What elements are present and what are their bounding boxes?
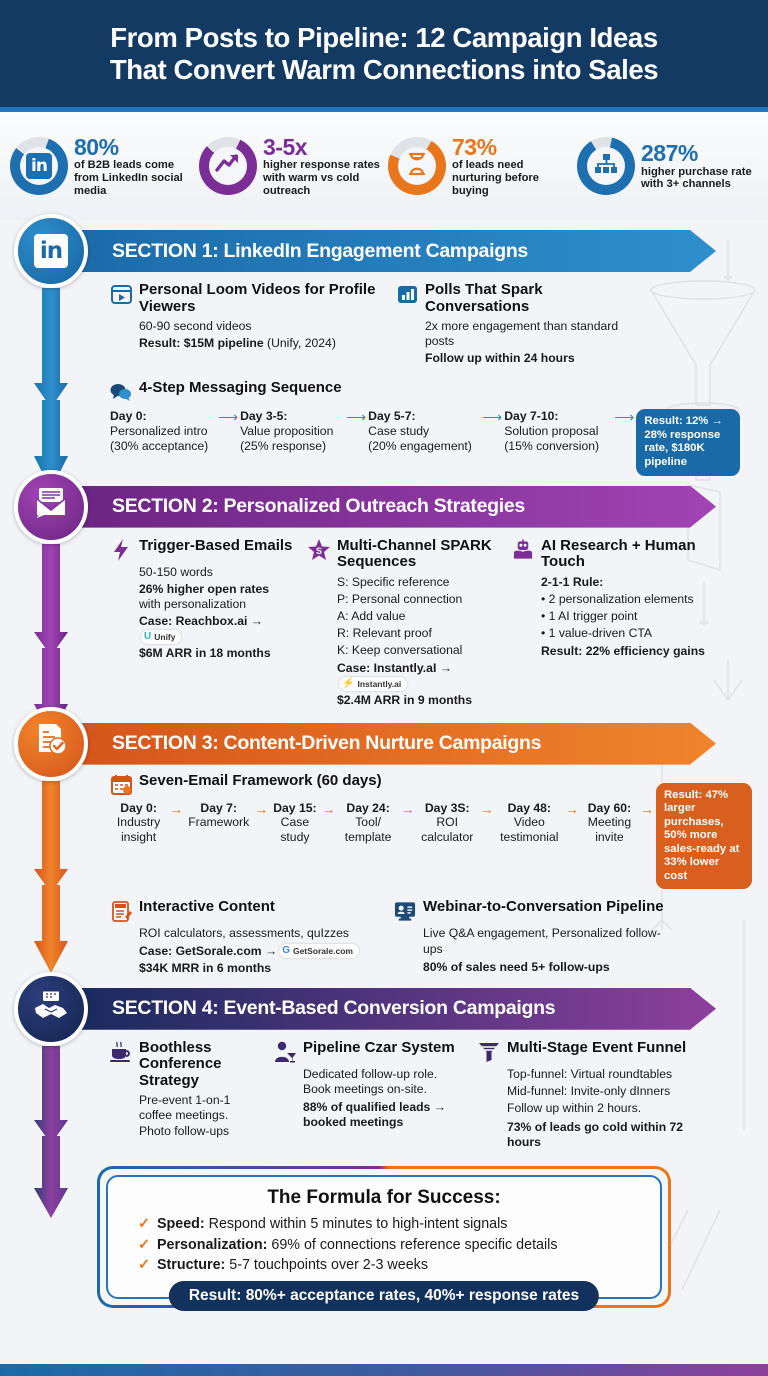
section-2-banner: SECTION 2: Personalized Outreach Strateg… (56, 486, 716, 528)
brand-chip-getsorale: GGetSorale.com (279, 944, 359, 958)
card-line: • 1 value-driven CTA (541, 626, 712, 641)
card-line: ROI calculators, assessments, quIzzes (139, 926, 380, 941)
step-line1: Video (496, 815, 563, 830)
timeline-step: Day 15: Case study (270, 801, 319, 845)
section-2-badge (14, 470, 88, 544)
section-2: SECTION 2: Personalized Outreach Strateg… (0, 486, 768, 717)
card-polls: Polls That Spark Conversations 2x more e… (396, 282, 646, 368)
lightning-bolt-icon (110, 539, 132, 561)
section-1-title: SECTION 1: LinkedIn Engagement Campaigns (112, 240, 528, 263)
card-line: • 2 personalization elements (541, 592, 712, 607)
chat-bubbles-icon (110, 381, 132, 403)
formula-title: The Formula for Success: (124, 1187, 644, 1209)
card-line: P: Personal connection (337, 592, 498, 607)
card-spark-sequences: S Multi-Channel SPARK Sequences S: Speci… (308, 538, 498, 711)
sequence-title: 4-Step Messaging Sequence (139, 380, 342, 397)
card-webinar-pipeline: Webinar-to-Conversation Pipeline Live Q&… (394, 899, 674, 977)
section-4: SECTION 4: Event-Based Conversion Campai… (0, 988, 768, 1159)
timeline-step: Day 48: Video testimonial (496, 801, 563, 845)
arrow-right-icon: ⟶ (344, 409, 368, 425)
card-event-funnel: Multi-Stage Event Funnel Top-funnel: Vir… (478, 1040, 693, 1153)
card-line: Pre-event 1-on-1 coffee meetings. Photo … (139, 1093, 260, 1138)
card-line: A: Add value (337, 609, 498, 624)
card-line: Result: 22% efficiency gains (541, 644, 712, 659)
card-line: Case: GetSorale.com → (139, 944, 277, 958)
card-line: 88% of qualified leads → booked meetings (303, 1100, 464, 1130)
page-title: From Posts to Pipeline: 12 Campaign Idea… (110, 22, 658, 86)
chip-label: GetSorale.com (293, 946, 353, 957)
hourglass-icon (407, 152, 427, 180)
section-1-badge: in (14, 214, 88, 288)
messaging-timeline: Day 0: Personalized intro (30% acceptanc… (110, 409, 752, 475)
stat-ring (577, 137, 635, 195)
card-line: 2-1-1 Rule: (541, 575, 712, 590)
section-3-title: SECTION 3: Content-Driven Nurture Campai… (112, 732, 541, 755)
card-pipeline-czar: Pipeline Czar System Dedicated follow-up… (274, 1040, 464, 1153)
card-interactive-content: Interactive Content ROI calculators, ass… (110, 899, 380, 977)
step-line1: Framework (185, 815, 252, 830)
stat-card-linkedin: in 80% of B2B leads come from LinkedIn s… (6, 135, 195, 198)
arrow-right-icon: ⟶ (480, 409, 504, 425)
arrow-right-icon: → (399, 801, 417, 817)
instantly-logo-icon: ⚡ (342, 678, 354, 690)
card-title: Polls That Spark Conversations (425, 282, 646, 315)
card-trigger-emails: Trigger-Based Emails 50-150 words 26% hi… (110, 538, 294, 711)
brand-chip-instantly: ⚡Instantly.ai (339, 677, 407, 691)
card-line: $6M ARR in 18 months (139, 646, 294, 661)
card-line: Case: Instantly.aI → (337, 661, 452, 675)
webinar-screen-icon (394, 900, 416, 922)
card-line: $34K MRR in 6 months (139, 961, 380, 976)
handshake-calendar-icon (33, 987, 69, 1030)
card-loom-videos: Personal Loom Videos for Profile Viewers… (110, 282, 382, 368)
document-check-icon (34, 722, 68, 765)
formula-row: ✓ Structure: 5-7 touchpoints over 2-3 we… (124, 1255, 644, 1275)
arrow-right-icon: → (638, 801, 656, 817)
step-line1: ROI (417, 815, 478, 830)
card-title: Webinar-to-Conversation Pipeline (423, 899, 664, 916)
card-line-suffix: with personalization (139, 597, 246, 611)
formula-inner: The Formula for Success: ✓ Speed: Respon… (106, 1175, 662, 1299)
stat-value: 287% (641, 141, 762, 166)
section-4-title: SECTION 4: Event-Based Conversion Campai… (112, 997, 555, 1020)
person-agent-icon (274, 1041, 296, 1063)
arrow-right-icon: → (478, 801, 496, 817)
step-line2: insight (110, 830, 167, 845)
timeline-step: Day 60: Meeting invite (581, 801, 638, 845)
stat-value: 73% (452, 135, 573, 160)
step-line2: testimonial (496, 830, 563, 845)
formula-label: Structure: (157, 1257, 225, 1273)
timeline-step: Day 5-7: Case study (20% engagement) (368, 409, 480, 453)
page-header: From Posts to Pipeline: 12 Campaign Idea… (0, 0, 768, 112)
google-g-icon: G (282, 945, 290, 957)
arrow-right-icon: ⟶ (612, 409, 636, 425)
formula-for-success-box: The Formula for Success: ✓ Speed: Respon… (97, 1166, 671, 1308)
card-line: S: Specific reference (337, 575, 498, 590)
arrow-right-icon: → (320, 801, 338, 817)
section-1-banner: SECTION 1: LinkedIn Engagement Campaigns (56, 230, 716, 272)
step-day: Day 7: (185, 801, 252, 816)
stat-description: higher response rates with warm vs cold … (263, 159, 384, 197)
step-line2: study (270, 830, 319, 845)
stat-description: of B2B leads come from LinkedIn social m… (74, 159, 195, 197)
card-line: Live Q&A engagement, Personalized follow… (423, 926, 674, 956)
section-3-badge (14, 707, 88, 781)
card-title: Pipeline Czar System (303, 1040, 455, 1057)
key-stats-strip: in 80% of B2B leads come from LinkedIn s… (0, 112, 768, 220)
infographic-page: From Posts to Pipeline: 12 Campaign Idea… (0, 0, 768, 1376)
robot-icon (512, 539, 534, 561)
step-line2: (30% acceptance) (110, 439, 216, 454)
check-icon: ✓ (138, 1235, 150, 1255)
linkedin-icon: in (34, 234, 68, 268)
section-3: SECTION 3: Content-Driven Nurture Campai… (0, 723, 768, 984)
card-line: Mid-funnel: Invite-only dInners (507, 1084, 693, 1099)
step-line2: (15% conversion) (504, 439, 612, 454)
card-line: Dedicated follow-up role. Book meetings … (303, 1067, 464, 1097)
timeline-step: Day 24: Tool/ template (338, 801, 399, 845)
coffee-cup-icon (110, 1041, 132, 1063)
card-boothless-conference: Boothless Conference Strategy Pre-event … (110, 1040, 260, 1153)
calendar-icon (110, 774, 132, 796)
section-1-content: Personal Loom Videos for Profile Viewers… (0, 272, 768, 482)
step-line2: template (338, 830, 399, 845)
messaging-sequence-block: 4-Step Messaging Sequence Day 0: Persona… (110, 380, 752, 475)
formula-text: 5-7 touchpoints over 2-3 weeks (225, 1257, 428, 1273)
section-4-content: Boothless Conference Strategy Pre-event … (0, 1030, 768, 1159)
arrow-right-icon: ⟶ (216, 409, 240, 425)
stat-ring: in (10, 137, 68, 195)
step-day: Day 3-5: (240, 409, 344, 424)
stat-ring (388, 137, 446, 195)
step-day: Day 60: (581, 801, 638, 816)
result-pill: Result: 12% → 28% response rate, $180K p… (636, 409, 740, 475)
seven-email-block: Seven-Email Framework (60 days) Day 0: I… (110, 773, 752, 890)
card-line: • 1 AI trigger point (541, 609, 712, 624)
arrow-right-icon: → (167, 801, 185, 817)
step-day: Day 5-7: (368, 409, 480, 424)
card-line: 73% of leads go cold within 72 hours (507, 1120, 693, 1150)
card-line: Top-funnel: Virtual roundtables (507, 1067, 693, 1082)
email-timeline: Day 0: Industry insight → Day 7: Framewo… (110, 801, 752, 890)
timeline-step: Day 0: Personalized intro (30% acceptanc… (110, 409, 216, 453)
check-icon: ✓ (138, 1255, 150, 1275)
card-line: R: Relevant proof (337, 626, 498, 641)
roi-clipboard-icon (110, 900, 132, 922)
funnel-icon (478, 1041, 500, 1063)
stat-card-channels: 287% higher purchase rate with 3+ channe… (573, 137, 762, 195)
step-line2: (20% engagement) (368, 439, 480, 454)
step-line1: Meeting (581, 815, 638, 830)
stat-ring (199, 137, 257, 195)
formula-row: ✓ Personalization: 69% of connections re… (124, 1235, 644, 1255)
formula-label: Speed: (157, 1216, 205, 1232)
title-line-2: That Convert Warm Connections into Sales (110, 54, 658, 86)
card-line: $2.4M ARR in 9 months (337, 693, 498, 708)
video-player-icon (110, 283, 132, 305)
step-line1: Value proposition (240, 424, 344, 439)
formula-text: 69% of connections reference specific de… (267, 1237, 557, 1253)
brand-chip-unify: UUnify (141, 630, 181, 644)
svg-text:S: S (316, 546, 322, 556)
step-line1: Tool/ (338, 815, 399, 830)
timeline-step: Day 7-10: Solution proposal (15% convers… (504, 409, 612, 453)
card-line: 26% higher open rates (139, 582, 269, 596)
step-line1: Solution proposal (504, 424, 612, 439)
card-line: Case: Reachbox.ai → (139, 614, 263, 628)
card-line: 60-90 second videos (139, 319, 382, 334)
step-line1: Case (270, 815, 319, 830)
card-title: Trigger-Based Emails (139, 538, 292, 555)
step-line1: Industry (110, 815, 167, 830)
card-line: Result: $15M pipeline (139, 336, 264, 350)
step-line1: Personalized intro (110, 424, 216, 439)
step-day: Day 48: (496, 801, 563, 816)
card-line: 50-150 words (139, 565, 294, 580)
chip-label: Instantly.ai (357, 679, 401, 690)
stat-value: 3-5x (263, 135, 384, 160)
step-day: Day 15: (270, 801, 319, 816)
section-1: in SECTION 1: LinkedIn Engagement Campai… (0, 230, 768, 482)
stat-card-nurturing: 73% of leads need nurturing before buyin… (384, 135, 573, 198)
stat-description: of leads need nurturing before buying (452, 159, 573, 197)
card-title: AI Research + Human Touch (541, 538, 712, 571)
card-line-suffix: (Unify, 2024) (264, 336, 336, 350)
step-day: Day 3S: (417, 801, 478, 816)
timeline-step: Day 3S: ROI calculator (417, 801, 478, 845)
card-line: 2x more engagement than standard posts (425, 319, 646, 349)
framework-title: Seven-Email Framework (60 days) (139, 773, 382, 790)
section-2-content: Trigger-Based Emails 50-150 words 26% hi… (0, 528, 768, 717)
card-line: K: Keep conversational (337, 643, 498, 658)
stat-value: 80% (74, 135, 195, 160)
formula-result-pill: Result: 80%+ acceptance rates, 40%+ resp… (169, 1281, 599, 1311)
title-line-1: From Posts to Pipeline: 12 Campaign Idea… (110, 22, 658, 53)
check-icon: ✓ (138, 1214, 150, 1234)
step-day: Day 24: (338, 801, 399, 816)
section-3-banner: SECTION 3: Content-Driven Nurture Campai… (56, 723, 716, 765)
section-4-badge (14, 972, 88, 1046)
step-line2: (25% response) (240, 439, 344, 454)
timeline-step: Day 0: Industry insight (110, 801, 167, 845)
bottom-gradient-bar (0, 1364, 768, 1376)
chip-label: Unify (154, 632, 175, 643)
step-day: Day 7-10: (504, 409, 612, 424)
step-day: Day 0: (110, 801, 167, 816)
card-title: Personal Loom Videos for Profile Viewers (139, 282, 382, 315)
section-3-content: Seven-Email Framework (60 days) Day 0: I… (0, 765, 768, 984)
card-title: Boothless Conference Strategy (139, 1040, 260, 1090)
formula-text: Respond within 5 minutes to high-intent … (205, 1216, 508, 1232)
formula-row: ✓ Speed: Respond within 5 minutes to hig… (124, 1214, 644, 1234)
step-day: Day 0: (110, 409, 216, 424)
step-line2: invite (581, 830, 638, 845)
stat-card-response-rate: 3-5x higher response rates with warm vs … (195, 135, 384, 198)
star-spark-icon: S (308, 539, 330, 561)
stat-description: higher purchase rate with 3+ channels (641, 166, 762, 191)
result-pill: Result: 47% larger purchases, 50% more s… (656, 783, 752, 890)
timeline-step: Day 3-5: Value proposition (25% response… (240, 409, 344, 453)
card-ai-research: AI Research + Human Touch 2-1-1 Rule: • … (512, 538, 712, 711)
linkedin-icon: in (26, 153, 52, 179)
arrow-right-icon: → (252, 801, 270, 817)
card-title: Interactive Content (139, 899, 275, 916)
card-title: Multi-Stage Event Funnel (507, 1040, 686, 1057)
section-2-title: SECTION 2: Personalized Outreach Strateg… (112, 495, 525, 518)
org-chart-icon (594, 153, 618, 179)
card-line: 80% of sales need 5+ follow-ups (423, 960, 674, 975)
unify-logo-icon: U (144, 631, 151, 643)
section-4-banner: SECTION 4: Event-Based Conversion Campai… (56, 988, 716, 1030)
card-title: Multi-Channel SPARK Sequences (337, 538, 498, 571)
envelope-message-icon (33, 485, 69, 528)
step-line1: Case study (368, 424, 480, 439)
card-line: Follow up within 2 hours. (507, 1101, 693, 1116)
trend-up-icon (215, 152, 241, 179)
card-line: Follow up within 24 hours (425, 351, 646, 366)
timeline-step: Day 7: Framework (185, 801, 252, 830)
bar-chart-icon (396, 283, 418, 305)
step-line2: calculator (417, 830, 478, 845)
formula-label: Personalization: (157, 1237, 267, 1253)
arrow-right-icon: → (563, 801, 581, 817)
